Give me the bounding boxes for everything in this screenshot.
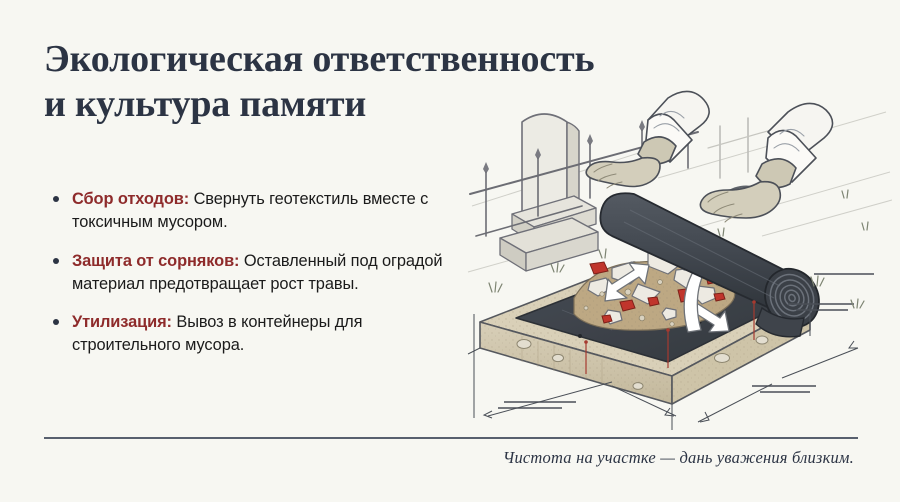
page-title-line-1: Экологическая ответственность: [44, 38, 524, 81]
list-item: Защита от сорняков: Оставленный под огра…: [50, 250, 468, 297]
bullet-label: Сбор отходов:: [72, 190, 189, 208]
bullet-label: Утилизация:: [72, 313, 172, 331]
footer-caption: Чистота на участке — дань уважения близк…: [503, 448, 854, 468]
page-title: Экологическая ответственность и культура…: [44, 38, 524, 125]
list-item: Сбор отходов: Свернуть геотекстиль вмест…: [50, 188, 468, 235]
geotextile-removal-illustration: [462, 86, 892, 434]
list-item: Утилизация: Вывоз в контейнеры для строи…: [50, 311, 468, 358]
bullet-dot-icon: [53, 319, 59, 325]
bullet-label: Защита от сорняков:: [72, 252, 239, 270]
page-title-line-2: и культура памяти: [44, 83, 524, 126]
slide-root: Экологическая ответственность и культура…: [0, 0, 900, 502]
bullet-list: Сбор отходов: Свернуть геотекстиль вмест…: [50, 188, 468, 358]
footer-divider: [44, 437, 858, 439]
bullet-dot-icon: [53, 258, 59, 264]
bullet-dot-icon: [53, 196, 59, 202]
